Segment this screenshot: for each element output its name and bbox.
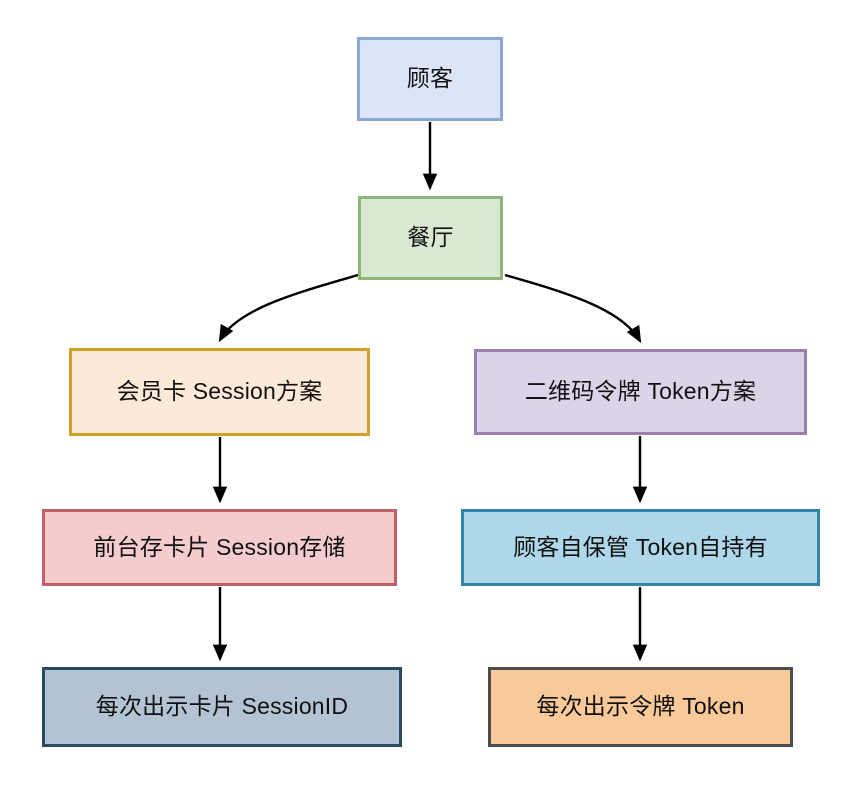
- node-customer[interactable]: 顾客: [357, 37, 503, 121]
- node-session-store-label: 前台存卡片 Session存储: [93, 534, 345, 562]
- flowchart-canvas: 顾客 餐厅 会员卡 Session方案 二维码令牌 Token方案 前台存卡片 …: [0, 0, 852, 788]
- node-restaurant[interactable]: 餐厅: [358, 196, 503, 280]
- node-token-hold[interactable]: 顾客自保管 Token自持有: [461, 509, 820, 586]
- node-token-hold-label: 顾客自保管 Token自持有: [513, 534, 768, 562]
- node-customer-label: 顾客: [407, 65, 453, 93]
- edge-restaurant-to-token-plan: [505, 275, 640, 341]
- node-session-plan[interactable]: 会员卡 Session方案: [69, 348, 370, 436]
- node-restaurant-label: 餐厅: [407, 224, 453, 252]
- node-token-plan[interactable]: 二维码令牌 Token方案: [474, 349, 807, 435]
- node-token-show-label: 每次出示令牌 Token: [536, 693, 744, 721]
- node-session-id-label: 每次出示卡片 SessionID: [96, 693, 348, 721]
- node-session-plan-label: 会员卡 Session方案: [117, 378, 323, 406]
- node-token-show[interactable]: 每次出示令牌 Token: [488, 667, 793, 747]
- node-session-store[interactable]: 前台存卡片 Session存储: [42, 509, 397, 586]
- node-token-plan-label: 二维码令牌 Token方案: [525, 378, 756, 406]
- node-session-id[interactable]: 每次出示卡片 SessionID: [42, 667, 402, 747]
- edge-restaurant-to-session-plan: [220, 275, 358, 340]
